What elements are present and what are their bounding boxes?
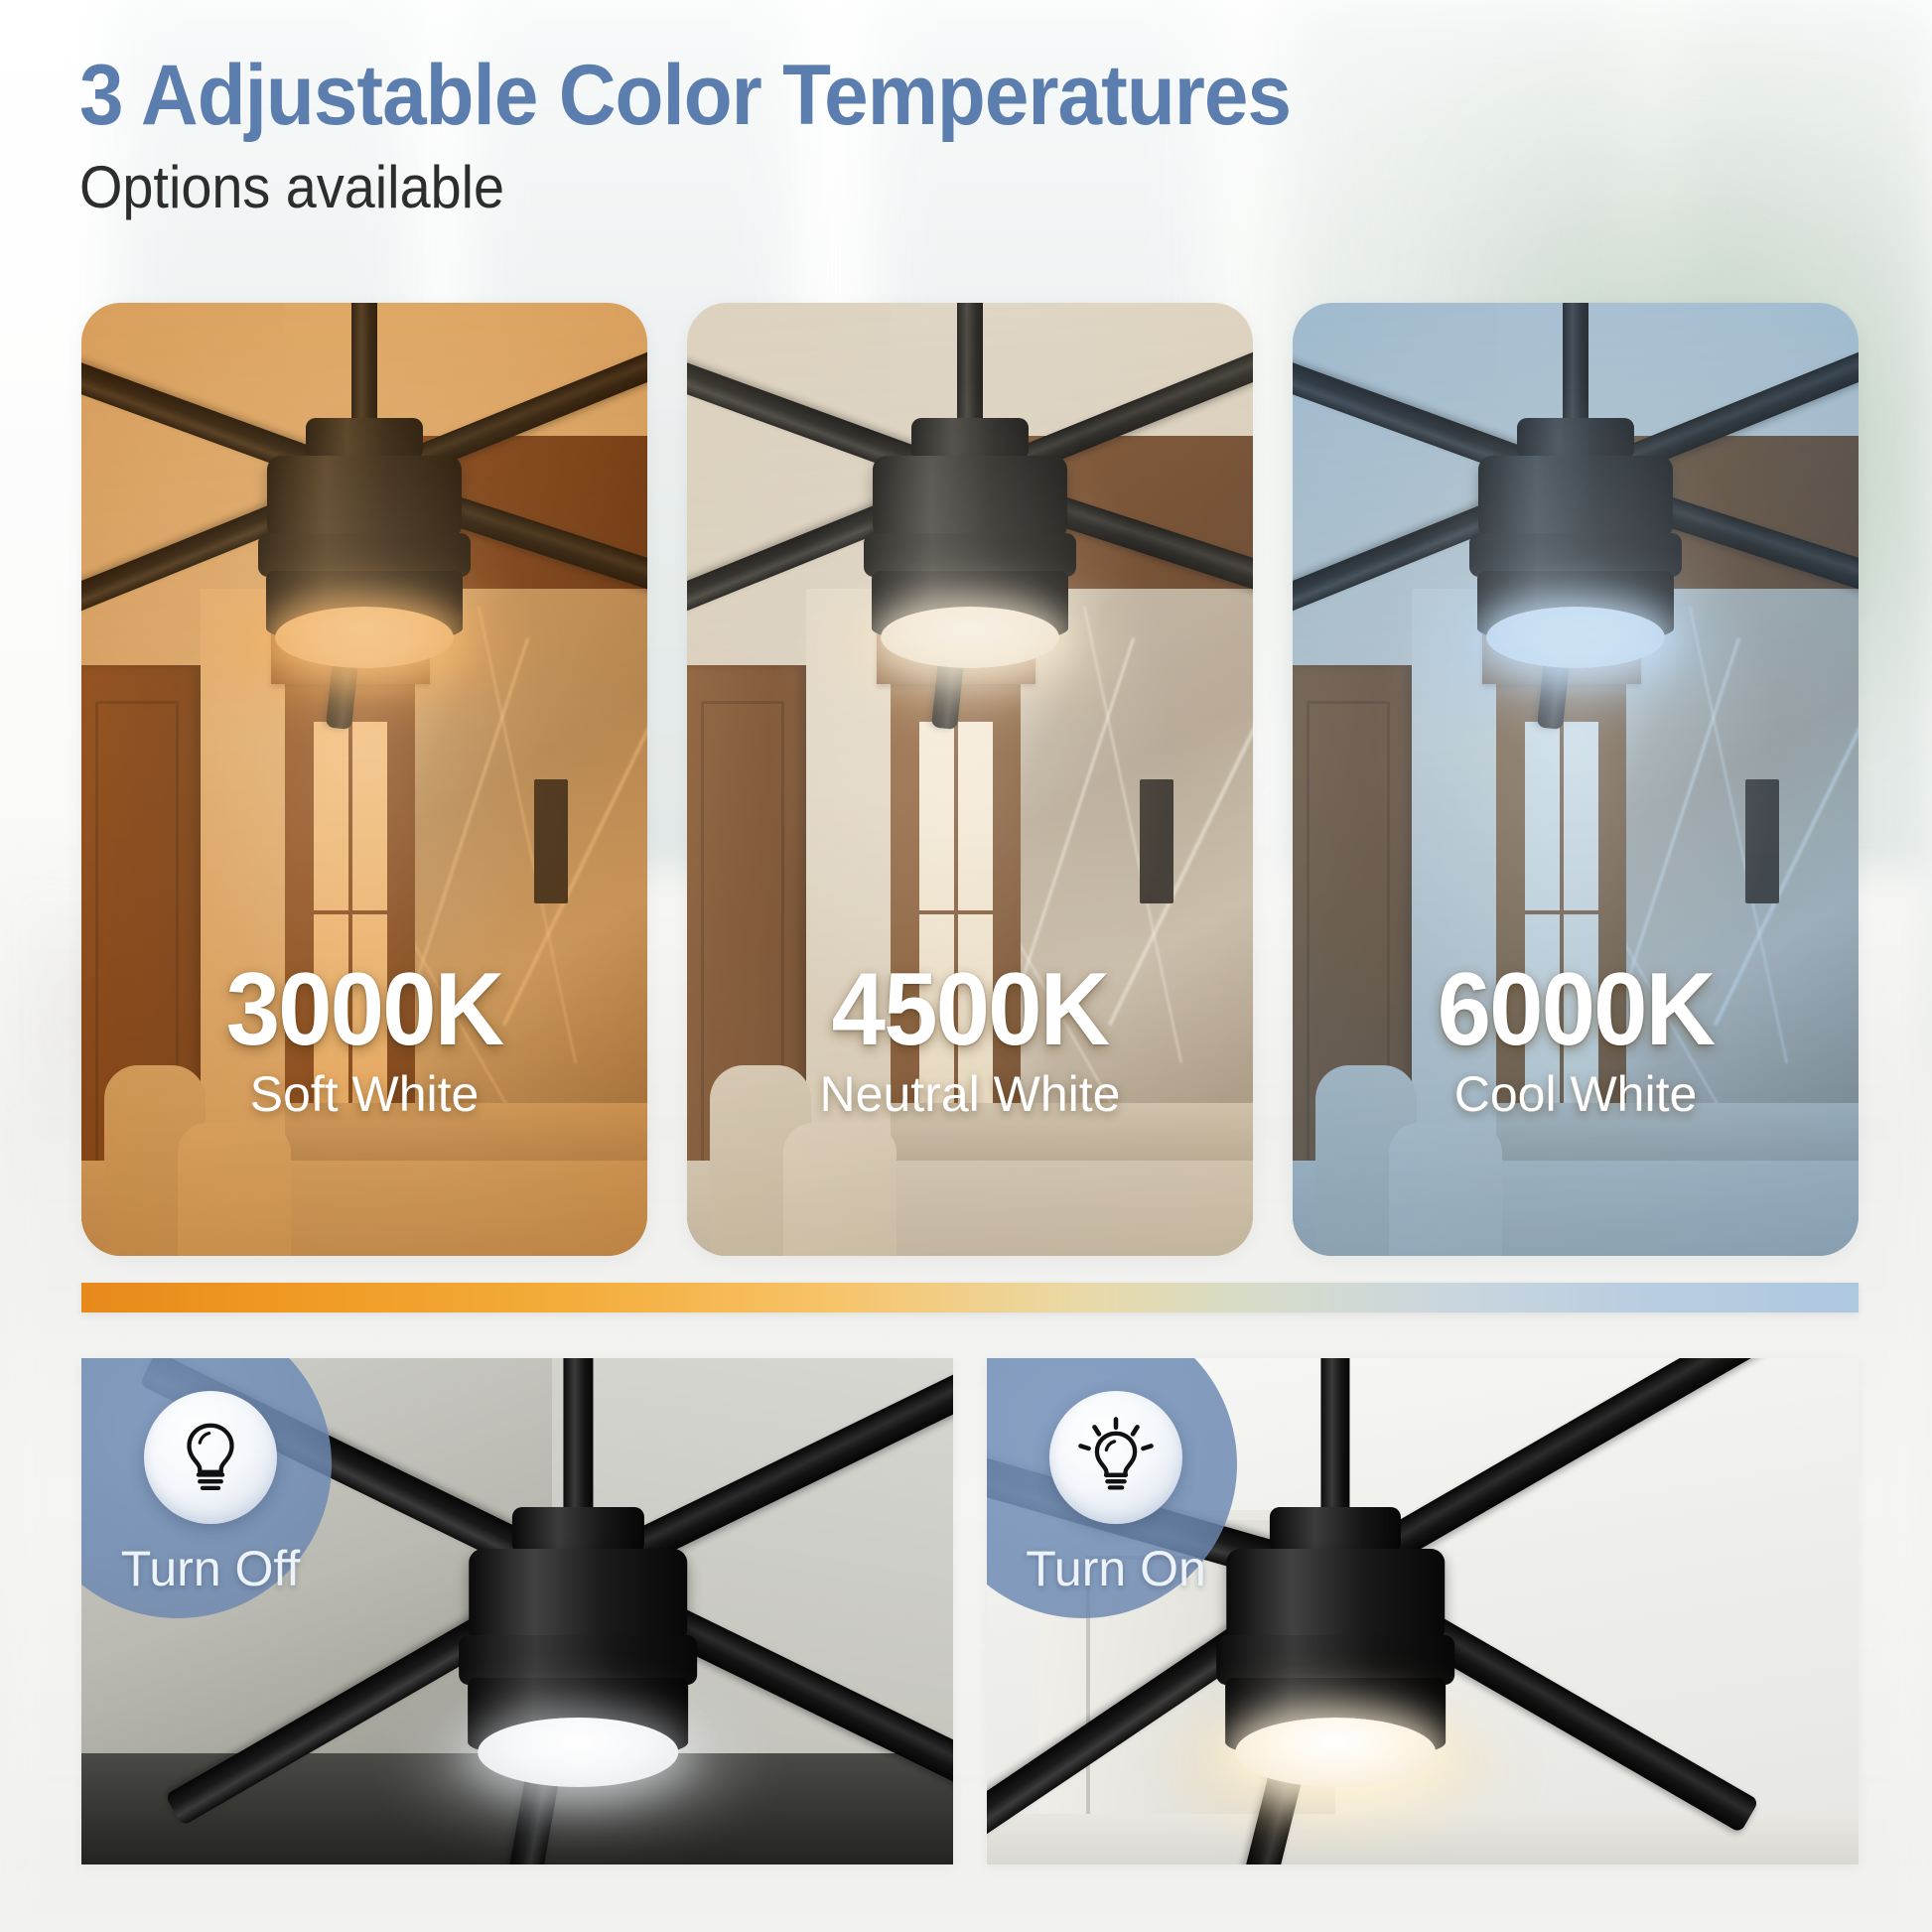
- card-caption-4500k: 4500K Neutral White: [687, 958, 1253, 1122]
- turn-on-badge[interactable]: Turn On: [987, 1358, 1237, 1618]
- door-cornice: [1482, 618, 1641, 684]
- chair: [783, 1123, 897, 1256]
- light-off-panel[interactable]: Turn Off: [81, 1358, 953, 1864]
- shadow-band: [81, 1753, 953, 1864]
- turn-on-label: Turn On: [1026, 1540, 1206, 1597]
- color-temperature-gradient-divider: [81, 1283, 1859, 1312]
- light-on-panel[interactable]: Turn On: [987, 1358, 1859, 1864]
- kelvin-name: Cool White: [1293, 1067, 1859, 1122]
- card-caption-3000k: 3000K Soft White: [81, 958, 647, 1122]
- baseboard: [987, 1814, 1859, 1864]
- header: 3 Adjustable Color Temperatures Options …: [79, 52, 1767, 218]
- door-cornice: [877, 618, 1035, 684]
- page-subtitle: Options available: [79, 156, 1649, 218]
- temperature-card-6000k[interactable]: 6000K Cool White: [1293, 303, 1859, 1256]
- kelvin-name: Soft White: [81, 1067, 647, 1122]
- wall-vent: [1140, 779, 1173, 903]
- chair: [178, 1123, 291, 1256]
- page-title: 3 Adjustable Color Temperatures: [79, 52, 1649, 140]
- wall-vent: [534, 779, 568, 903]
- temperature-card-3000k[interactable]: 3000K Soft White: [81, 303, 647, 1256]
- lightbulb-off-icon: [144, 1391, 277, 1524]
- upper-cabinet: [1021, 436, 1253, 598]
- kelvin-name: Neutral White: [687, 1067, 1253, 1122]
- lightbulb-on-icon: [1049, 1391, 1182, 1524]
- card-caption-6000k: 6000K Cool White: [1293, 958, 1859, 1122]
- color-temperature-card-row: 3000K Soft White: [81, 303, 1859, 1256]
- light-toggle-panel-row: Turn Off Turn On: [81, 1358, 1859, 1864]
- kelvin-value: 6000K: [1310, 958, 1842, 1061]
- kelvin-value: 4500K: [704, 958, 1236, 1061]
- door-cornice: [271, 618, 430, 684]
- turn-off-badge[interactable]: Turn Off: [81, 1358, 332, 1618]
- chair: [1389, 1123, 1502, 1256]
- kelvin-value: 3000K: [98, 958, 630, 1061]
- temperature-card-4500k[interactable]: 4500K Neutral White: [687, 303, 1253, 1256]
- wall-vent: [1745, 779, 1779, 903]
- turn-off-label: Turn Off: [121, 1540, 301, 1597]
- upper-cabinet: [1626, 436, 1859, 598]
- upper-cabinet: [415, 436, 647, 598]
